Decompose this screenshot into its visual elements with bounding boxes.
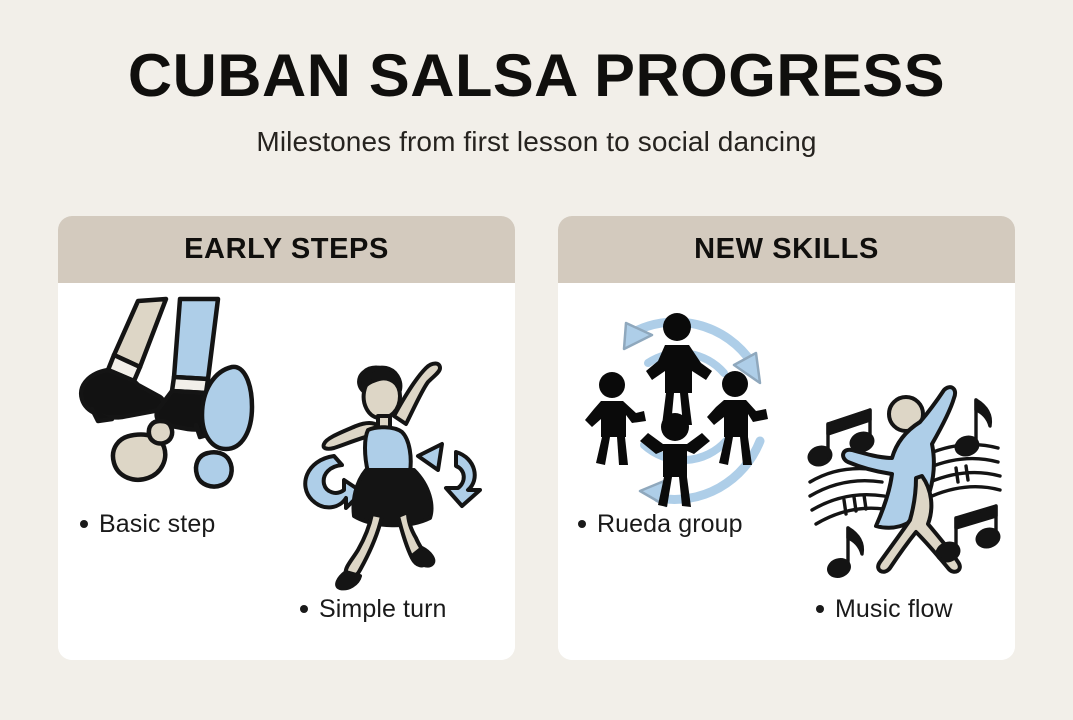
card-body-early-steps: Basic step [58,283,515,660]
bullet-icon [816,605,824,613]
turning-dancer-arrows-icon [290,338,500,588]
card-title-new-skills: NEW SKILLS [694,233,879,266]
item-label-text: Music flow [835,595,953,623]
card-early-steps[interactable]: EARLY STEPS [58,216,515,660]
page-subtitle: Milestones from first lesson to social d… [0,126,1073,158]
bullet-icon [578,520,586,528]
item-label-simple-turn: Simple turn [300,595,447,624]
item-label-text: Rueda group [597,510,743,538]
card-new-skills[interactable]: NEW SKILLS [558,216,1015,660]
item-label-music-flow: Music flow [816,595,953,624]
page-header: CUBAN SALSA PROGRESS Milestones from fir… [0,0,1073,158]
bullet-icon [80,520,88,528]
circle-of-dancers-icon [570,301,785,516]
card-body-new-skills: Rueda group [558,283,1015,660]
page-title: CUBAN SALSA PROGRESS [0,46,1073,106]
item-label-basic-step: Basic step [80,510,215,539]
item-label-text: Basic step [99,510,215,538]
dancing-feet-footprints-icon [68,293,278,493]
card-header-new-skills: NEW SKILLS [558,216,1015,283]
bullet-icon [300,605,308,613]
dancer-with-music-notes-icon [804,378,1004,578]
item-label-rueda-group: Rueda group [578,510,743,539]
item-label-text: Simple turn [319,595,447,623]
cards-row: EARLY STEPS [58,216,1015,660]
card-header-early-steps: EARLY STEPS [58,216,515,283]
card-title-early-steps: EARLY STEPS [184,233,389,266]
